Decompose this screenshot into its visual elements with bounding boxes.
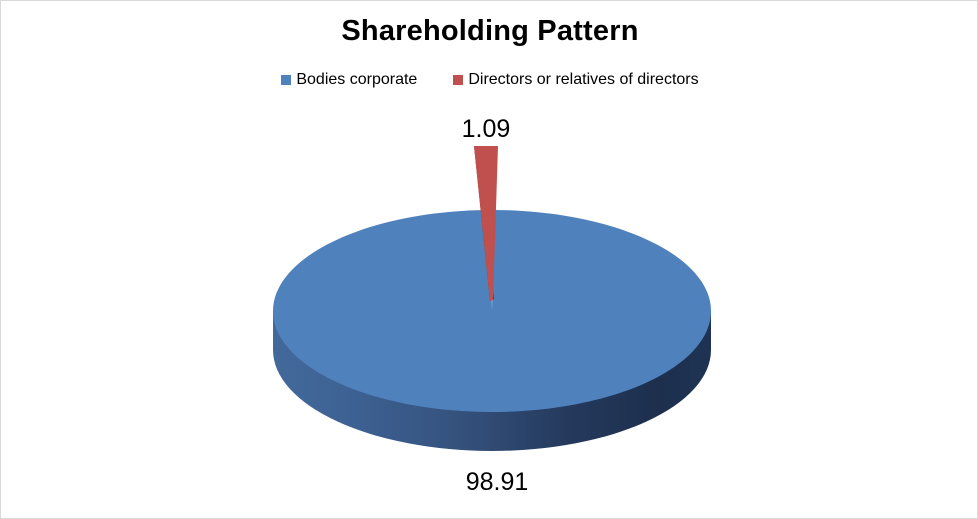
legend-item-directors-or-relatives[interactable]: Directors or relatives of directors — [453, 71, 698, 89]
pie-chart-graphic — [1, 101, 978, 519]
chart-title: Shareholding Pattern — [1, 15, 978, 48]
chart-container: Shareholding Pattern Bodies corporate Di… — [0, 0, 978, 519]
data-label-large-slice: 98.91 — [1, 468, 978, 497]
plot-area: 1.09 98.91 — [1, 101, 978, 519]
legend-label: Directors or relatives of directors — [468, 71, 698, 89]
legend-swatch-icon — [281, 75, 291, 85]
data-label-small-slice: 1.09 — [1, 115, 978, 144]
legend-swatch-icon — [453, 75, 463, 85]
legend-label: Bodies corporate — [296, 71, 417, 89]
legend-item-bodies-corporate[interactable]: Bodies corporate — [281, 71, 417, 89]
chart-legend: Bodies corporate Directors or relatives … — [1, 71, 978, 89]
